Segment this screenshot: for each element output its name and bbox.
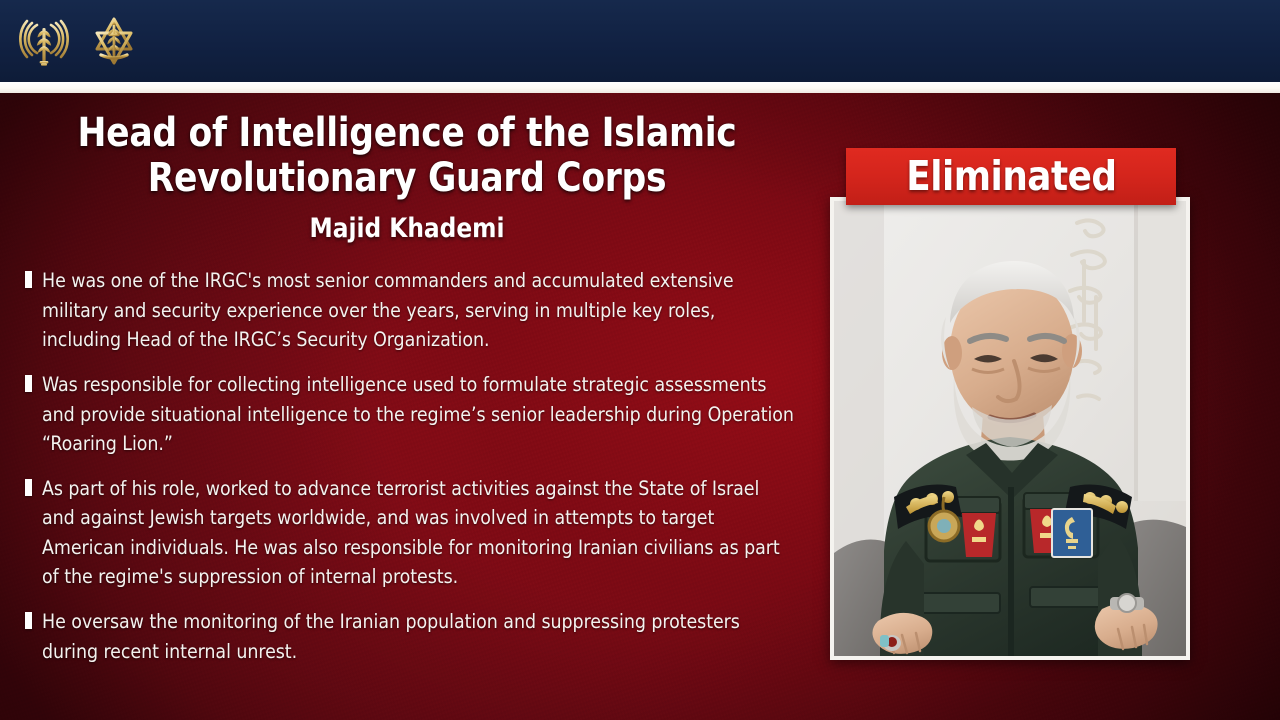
bullet-marker-icon bbox=[25, 479, 32, 496]
status-badge-label: Eliminated bbox=[906, 156, 1116, 197]
status-badge: Eliminated bbox=[846, 148, 1176, 205]
header-divider bbox=[0, 82, 1280, 93]
portrait-photo bbox=[834, 201, 1186, 656]
header-bar bbox=[0, 0, 1280, 82]
subject-name: Majid Khademi bbox=[34, 213, 781, 244]
list-item: He oversaw the monitoring of the Iranian… bbox=[20, 607, 796, 666]
text-column: Head of Intelligence of the Islamic Revo… bbox=[0, 93, 812, 720]
portrait-frame bbox=[830, 197, 1190, 660]
bullet-marker-icon bbox=[25, 612, 32, 629]
list-item: He was one of the IRGC's most senior com… bbox=[20, 266, 796, 354]
list-item: As part of his role, worked to advance t… bbox=[20, 474, 796, 591]
page-title: Head of Intelligence of the Islamic Revo… bbox=[34, 111, 781, 201]
idf-spokesperson-logo bbox=[16, 12, 72, 70]
bullet-marker-icon bbox=[25, 271, 32, 288]
list-item: Was responsible for collecting intellige… bbox=[20, 370, 796, 458]
slide-root: Head of Intelligence of the Islamic Revo… bbox=[0, 0, 1280, 720]
bullet-list: He was one of the IRGC's most senior com… bbox=[18, 266, 796, 666]
idf-emblem bbox=[86, 12, 142, 70]
list-item-text: As part of his role, worked to advance t… bbox=[42, 477, 780, 588]
list-item-text: He was one of the IRGC's most senior com… bbox=[42, 269, 734, 351]
bullet-marker-icon bbox=[25, 375, 32, 392]
list-item-text: Was responsible for collecting intellige… bbox=[42, 373, 794, 455]
list-item-text: He oversaw the monitoring of the Iranian… bbox=[42, 610, 740, 662]
